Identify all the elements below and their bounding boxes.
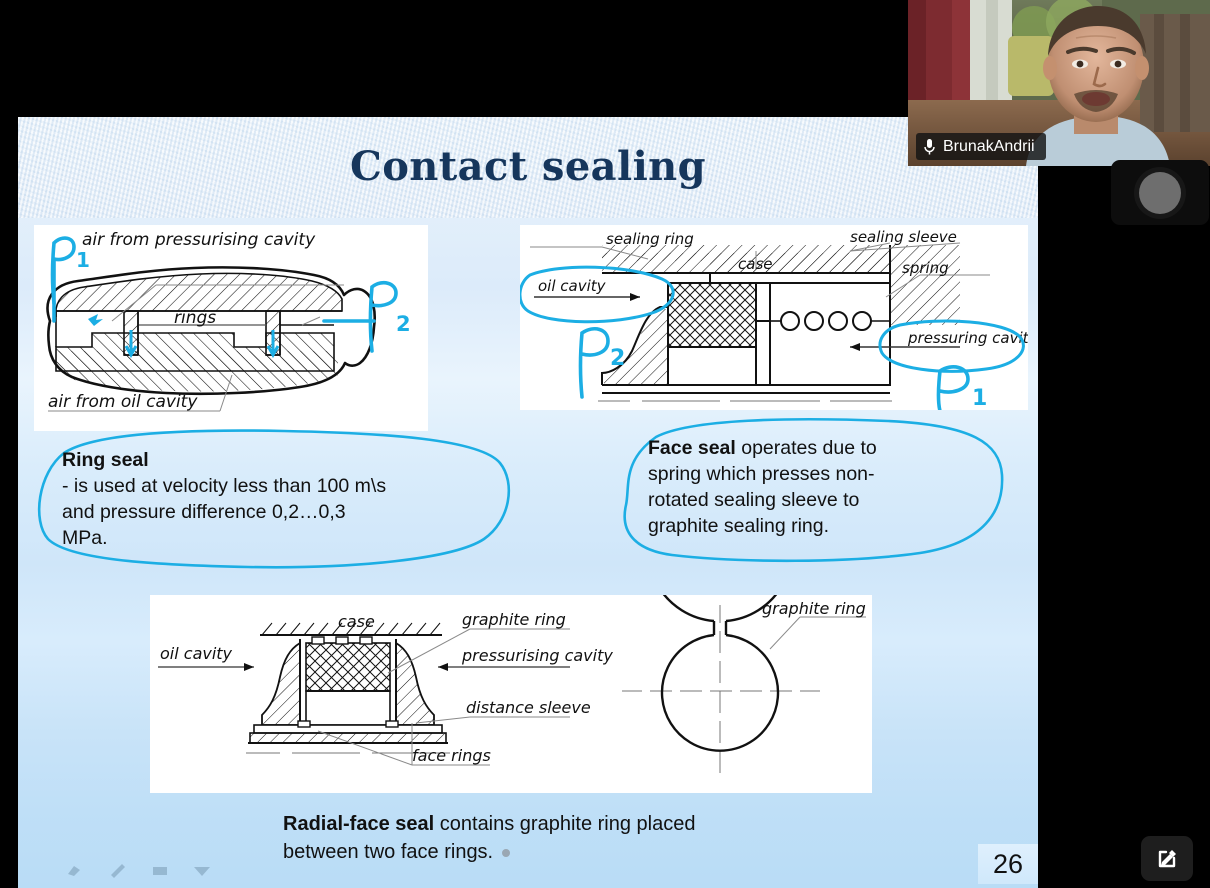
figure-label-case-2: case — [338, 612, 375, 631]
annotate-button[interactable] — [1141, 836, 1193, 881]
callout-heading-2: Face seal — [648, 437, 736, 459]
callout-line-3b: rotated sealing sleeve to — [648, 487, 938, 513]
presentation-slide: Contact sealing — [18, 117, 1038, 888]
figure-label-graphite-ring: graphite ring — [462, 610, 566, 629]
figure-label-top: air from pressurising cavity — [82, 230, 316, 250]
second-participant-tile[interactable] — [1111, 160, 1209, 225]
microphone-icon — [923, 138, 936, 156]
callout-ring-seal: Ring seal - is used at velocity less tha… — [62, 447, 482, 551]
figure-label-case: case — [738, 255, 772, 273]
webcam-pip[interactable]: BrunakAndrii — [908, 0, 1210, 166]
screen-share-view: Contact sealing — [0, 0, 1210, 888]
svg-text:1: 1 — [76, 248, 90, 272]
figure-label-distance-sleeve: distance sleeve — [466, 698, 591, 717]
participant-name-badge: BrunakAndrii — [916, 133, 1046, 160]
annotation-toolbar[interactable] — [66, 862, 212, 878]
eraser-tool-icon[interactable] — [150, 862, 170, 878]
highlighter-tool-icon[interactable] — [66, 862, 86, 878]
annotate-pen-square-icon — [1153, 845, 1181, 873]
stamp-tool-icon[interactable] — [192, 862, 212, 878]
figure-ring-seal: air from pressurising cavity rings air f… — [34, 225, 428, 431]
callout-line-3: MPa. — [62, 525, 482, 551]
caption-line-2: between two face rings. — [283, 841, 493, 863]
callout-heading: Ring seal — [62, 447, 482, 473]
figure-label-face-rings: face rings — [412, 746, 491, 765]
callout-line-2: and pressure difference 0,2…0,3 — [62, 499, 482, 525]
figure-face-seal: sealing ring case sealing sleeve spring … — [520, 225, 1028, 410]
bullet-dot-icon — [502, 849, 510, 857]
callout-line-1b: operates due to — [736, 437, 877, 459]
svg-text:2: 2 — [610, 346, 625, 371]
figure-label-oil-cavity: oil cavity — [538, 277, 607, 295]
avatar — [1139, 172, 1181, 214]
svg-text:2: 2 — [396, 312, 411, 336]
figure-label-rings: rings — [174, 308, 216, 328]
caption-rest: contains graphite ring placed — [434, 813, 695, 835]
caption-heading: Radial-face seal — [283, 813, 434, 835]
figure-label-sealing-ring: sealing ring — [606, 230, 694, 248]
figure-label-pressurising-cavity: pressurising cavity — [461, 646, 613, 665]
page-number: 26 — [978, 844, 1038, 884]
figure-label-graphite-ring-2: graphite ring — [762, 599, 866, 618]
callout-line-2b: spring which presses non- — [648, 461, 938, 487]
pen-tool-icon[interactable] — [108, 862, 128, 878]
slide-caption: Radial-face seal contains graphite ring … — [283, 810, 883, 866]
callout-line-4b: graphite sealing ring. — [648, 513, 938, 539]
svg-text:1: 1 — [972, 386, 987, 410]
callout-line-1: - is used at velocity less than 100 m\s — [62, 473, 482, 499]
participant-name: BrunakAndrii — [943, 138, 1035, 156]
figure-label-sealing-sleeve: sealing sleeve — [850, 228, 957, 246]
figure-label-bottom: air from oil cavity — [48, 392, 198, 412]
page-title: Contact sealing — [18, 143, 1038, 190]
figure-label-spring: spring — [902, 259, 949, 277]
figure-radial-face-seal: oil cavity case graphite ring pressurisi… — [150, 595, 872, 793]
callout-face-seal: Face seal operates due to spring which p… — [648, 435, 938, 539]
figure-label-oil-cavity-2: oil cavity — [160, 644, 233, 663]
graphite-ring-end-view: graphite ring — [622, 595, 866, 773]
